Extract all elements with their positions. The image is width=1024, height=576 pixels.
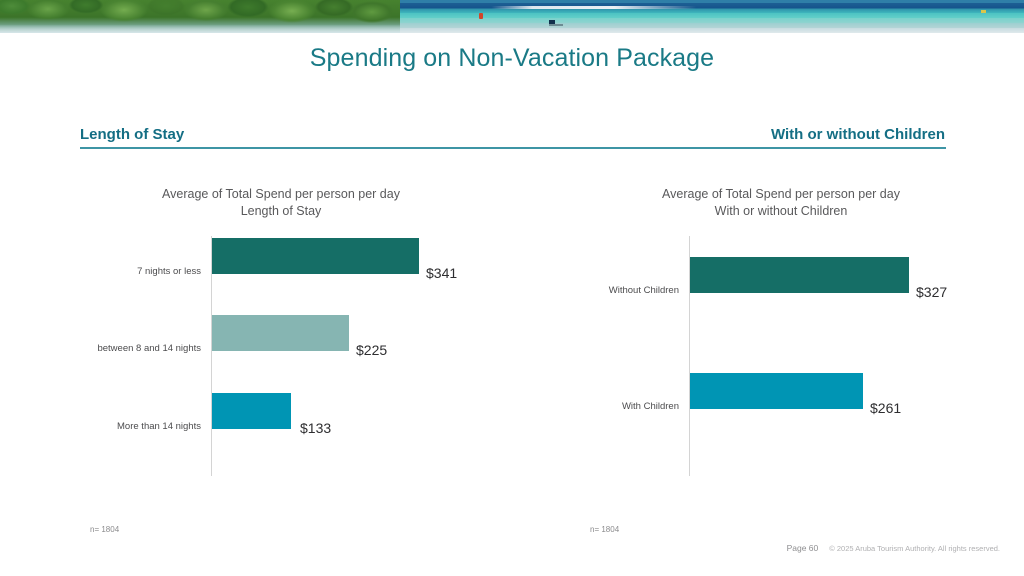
bar-value-label: $133 — [300, 420, 331, 436]
chart-title: Average of Total Spend per person per da… — [76, 186, 486, 220]
section-header-with-or-without-children: With or without Children — [771, 126, 945, 143]
bar-category-label: More than 14 nights — [117, 421, 201, 432]
buoy-icon — [981, 10, 986, 13]
bar-value-label: $327 — [916, 284, 947, 300]
slide-footer: Page 60 © 2025 Aruba Tourism Authority. … — [787, 543, 1000, 553]
bar-segment[interactable] — [690, 257, 909, 293]
bar-category-label: between 8 and 14 nights — [97, 343, 201, 354]
page-title: Spending on Non-Vacation Package — [0, 44, 1024, 73]
chart-panel-with-or-without-children: Average of Total Spend per person per da… — [576, 186, 986, 476]
copyright-text: © 2025 Aruba Tourism Authority. All righ… — [829, 544, 1000, 553]
bar-category-label: Without Children — [609, 285, 679, 296]
bar-value-label: $225 — [356, 342, 387, 358]
bar-value-label: $261 — [870, 400, 901, 416]
page-number: Page 60 — [787, 543, 819, 553]
banner-mangrove-foliage — [0, 0, 400, 33]
bar-segment[interactable] — [212, 238, 419, 274]
bar-chart-with-or-without-children: Without Children $327 With Children $261 — [576, 236, 986, 476]
section-header-divider — [80, 147, 946, 149]
boat-icon — [549, 24, 563, 26]
chart-panel-length-of-stay: Average of Total Spend per person per da… — [76, 186, 486, 476]
chart-title: Average of Total Spend per person per da… — [576, 186, 986, 220]
sample-size-note-right: n= 1804 — [590, 525, 619, 534]
header-banner-image — [0, 0, 1024, 33]
bar-chart-length-of-stay: 7 nights or less $341 between 8 and 14 n… — [76, 236, 486, 476]
bar-segment[interactable] — [690, 373, 863, 409]
kayak-icon — [479, 13, 483, 19]
bar-segment[interactable] — [212, 315, 349, 351]
bar-value-label: $341 — [426, 265, 457, 281]
section-header-length-of-stay: Length of Stay — [80, 126, 184, 143]
bar-category-label: With Children — [622, 401, 679, 412]
bar-segment[interactable] — [212, 393, 291, 429]
sample-size-note-left: n= 1804 — [90, 525, 119, 534]
bar-category-label: 7 nights or less — [137, 266, 201, 277]
